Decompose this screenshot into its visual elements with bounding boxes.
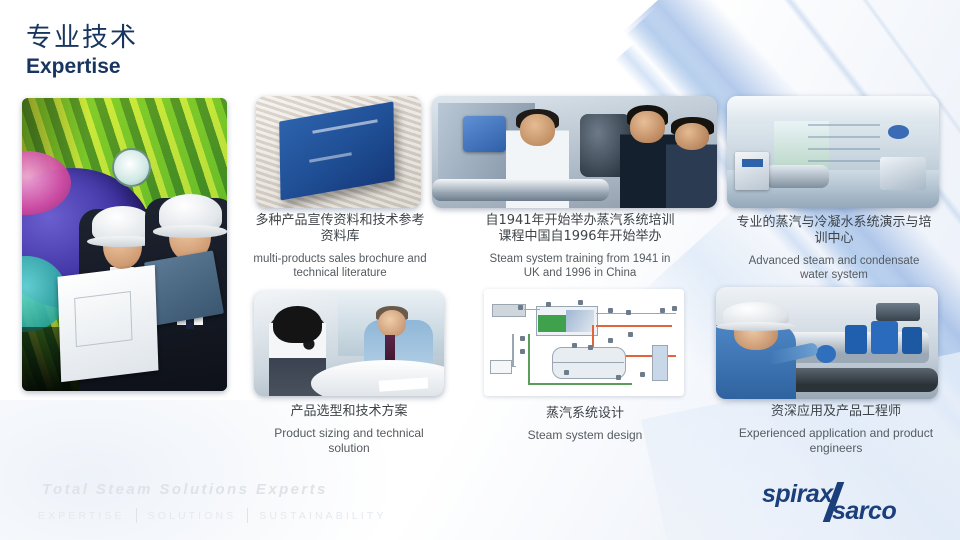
spirax-sarco-logo: spirax sarco [758,480,940,526]
card-image-product-sizing [254,291,444,396]
caption-chinese: 自1941年开始举办蒸汽系统培训课程中国自1996年开始举办 [482,213,678,246]
hero-photo-engineers [22,98,227,391]
caption-english: Steam system training from 1941 in UK an… [482,252,678,281]
caption-chinese: 专业的蒸汽与冷凝水系统演示与培训中心 [736,215,932,248]
pillar-separator [136,508,137,523]
slide-canvas: 专业技术 Expertise [0,0,960,540]
footer-pillars: EXPERTISE SOLUTIONS SUSTAINABILITY [38,508,386,523]
card-image-demo-center [727,96,939,208]
caption-english: Advanced steam and condensate water syst… [736,254,932,283]
pillar-expertise: EXPERTISE [38,510,125,522]
caption-english: Product sizing and technical solution [256,426,442,456]
caption-chinese: 多种产品宣传资料和技术参考资料库 [250,213,430,246]
logo-text-sarco: sarco [832,497,896,526]
caption-english: multi-products sales brochure and techni… [250,252,430,281]
pillar-sustainability: SUSTAINABILITY [259,510,386,522]
card-caption-training: 自1941年开始举办蒸汽系统培训课程中国自1996年开始举办 Steam sys… [482,213,678,280]
card-image-engineers [716,287,938,399]
card-image-training [432,96,717,208]
logo-text-spirax: spirax [762,480,833,509]
card-caption-brochure: 多种产品宣传资料和技术参考资料库 multi-products sales br… [250,213,430,280]
footer-tagline: Total Steam Solutions Experts [42,481,328,498]
caption-english: Steam system design [492,428,678,443]
caption-chinese: 蒸汽系统设计 [492,406,678,422]
card-caption-demo-center: 专业的蒸汽与冷凝水系统演示与培训中心 Advanced steam and co… [736,215,932,282]
caption-chinese: 产品选型和技术方案 [256,404,442,420]
caption-chinese: 资深应用及产品工程师 [736,404,936,420]
card-caption-product-sizing: 产品选型和技术方案 Product sizing and technical s… [256,404,442,456]
caption-english: Experienced application and product engi… [736,426,936,456]
card-caption-system-design: 蒸汽系统设计 Steam system design [492,406,678,443]
card-image-system-design [484,289,684,396]
card-caption-engineers: 资深应用及产品工程师 Experienced application and p… [736,404,936,456]
card-image-brochure [256,96,421,208]
page-title-chinese: 专业技术 [26,24,138,53]
page-title: 专业技术 Expertise [26,24,138,80]
page-title-english: Expertise [26,54,138,80]
pillar-separator [247,508,248,523]
pillar-solutions: SOLUTIONS [148,510,237,522]
